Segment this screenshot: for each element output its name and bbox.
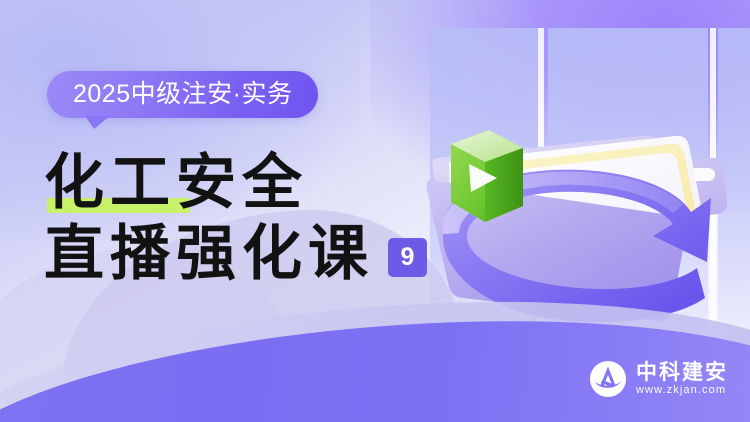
headline-row-2: 直播强化课 9: [44, 223, 474, 286]
brand-url: www.zkjan.com: [636, 385, 728, 396]
brand-logo: 中科建安 www.zkjan.com: [589, 360, 728, 398]
headline-line-1: 化工安全: [44, 152, 308, 215]
course-banner: 2025中级注安·实务 化工安全 直播强化课 9 中科建安 www.zkjan.…: [0, 0, 750, 422]
course-category-tag: 2025中级注安·实务: [47, 71, 318, 118]
brand-mark-icon: [589, 360, 627, 398]
headline-line-2: 直播强化课: [44, 223, 374, 286]
brand-name: 中科建安: [636, 362, 728, 383]
headline-row-1: 化工安全: [44, 152, 474, 215]
course-category-label: 2025中级注安·实务: [73, 79, 292, 109]
brand-text: 中科建安 www.zkjan.com: [636, 362, 728, 396]
episode-badge: 9: [388, 238, 427, 277]
bottom-sweep: [0, 282, 750, 422]
headline-block: 化工安全 直播强化课 9: [44, 152, 474, 286]
tag-tail-icon: [85, 116, 110, 129]
